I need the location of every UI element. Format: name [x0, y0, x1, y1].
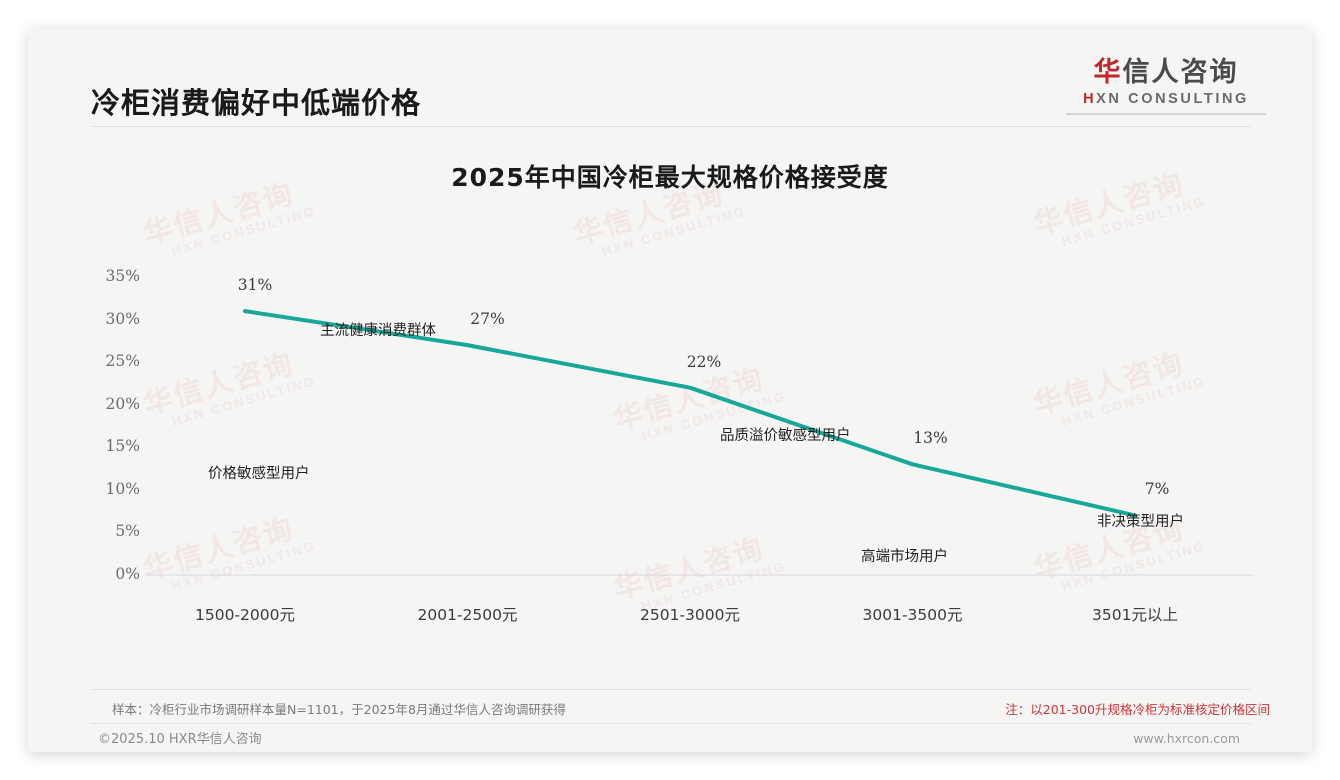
- brand-logo-en-accent: H: [1083, 91, 1096, 107]
- footer-url: www.hxrcon.com: [1133, 731, 1240, 746]
- chart-annotation: 主流健康消费群体: [320, 319, 436, 340]
- footer-red-note: 注：以201-300升规格冷柜为标准核定价格区间: [1005, 699, 1270, 718]
- series-line-price-acceptance: [245, 311, 1135, 515]
- data-value-label: 22%: [687, 353, 721, 371]
- slide-card: 华信人咨询 HXN CONSULTING 华信人咨询 HXN CONSULTIN…: [28, 28, 1312, 752]
- chart-title: 2025年中国冷柜最大规格价格接受度: [28, 158, 1312, 194]
- x-axis-tick-label: 2501-3000元: [640, 603, 740, 625]
- header-divider: [91, 126, 1251, 127]
- data-value-label: 13%: [913, 429, 947, 447]
- chart-annotation: 品质溢价敏感型用户: [720, 424, 851, 445]
- chart-area: 0%5%10%15%20%25%30%35% 1500-2000元2001-25…: [28, 28, 1312, 752]
- footer-copyright: ©2025.10 HXR华信人咨询: [98, 728, 262, 747]
- brand-logo-cn-accent: 华: [1094, 57, 1123, 88]
- data-value-label: 31%: [238, 276, 272, 294]
- chart-annotation: 高端市场用户: [861, 545, 948, 566]
- x-axis-tick-label: 1500-2000元: [195, 603, 295, 625]
- footer-bottom-divider: [91, 723, 1251, 724]
- brand-logo-en-rest: XN CONSULTING: [1096, 91, 1249, 107]
- chart-annotation: 价格敏感型用户: [208, 462, 310, 483]
- brand-logo-en: HXN CONSULTING: [1066, 91, 1266, 107]
- x-axis-tick-label: 3501元以上: [1092, 603, 1178, 625]
- data-value-label: 7%: [1145, 480, 1170, 498]
- footer-sample-note: 样本：冷柜行业市场调研样本量N=1101，于2025年8月通过华信人咨询调研获得: [112, 699, 566, 718]
- data-value-label: 27%: [470, 310, 504, 328]
- brand-logo-cn-rest: 信人咨询: [1123, 57, 1239, 88]
- brand-logo: 华信人咨询 HXN CONSULTING: [1066, 58, 1266, 115]
- x-axis-tick-label: 2001-2500元: [418, 603, 518, 625]
- brand-logo-cn: 华信人咨询: [1066, 58, 1266, 88]
- x-axis-tick-label: 3001-3500元: [863, 603, 963, 625]
- footer-divider: [91, 689, 1251, 690]
- page-title: 冷柜消费偏好中低端价格: [91, 80, 421, 122]
- header-bar: 冷柜消费偏好中低端价格 华信人咨询 HXN CONSULTING: [28, 28, 1312, 124]
- line-chart-svg: [28, 28, 1312, 752]
- brand-logo-underline: [1066, 113, 1266, 115]
- chart-annotation: 非决策型用户: [1097, 510, 1184, 531]
